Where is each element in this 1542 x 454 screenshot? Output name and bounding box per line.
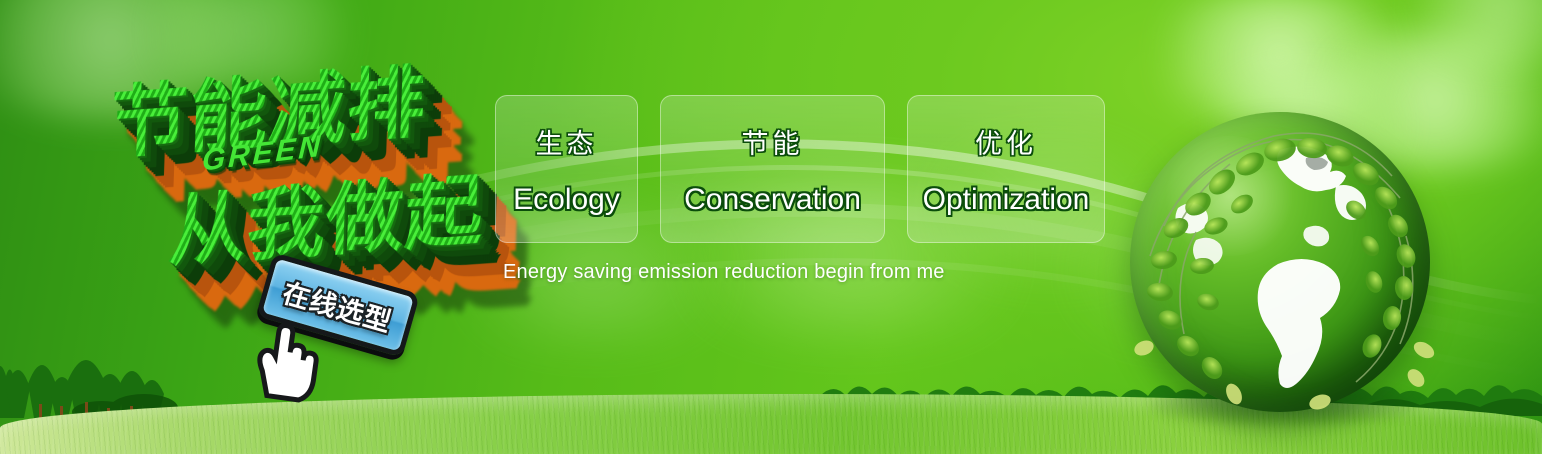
feature-card-cn-label: 节能 [742,122,804,161]
conifer-trees-icon [0,338,194,418]
feature-card-cn-label: 生态 [536,122,598,161]
eco-promo-banner: 节能减排 GREEN 从我做起 在线选型 生态 Ecology 节能 Conse… [0,0,1542,454]
leafy-earth-globe [1130,112,1430,412]
feature-card-en-label: Optimization [923,183,1090,217]
online-selection-button[interactable]: 在线选型 [256,252,420,357]
cloud-icon [0,0,280,120]
cloud-icon [1130,0,1430,120]
cloud-icon [120,0,380,90]
feature-card-en-label: Ecology [513,183,620,217]
tagline: Energy saving emission reduction begin f… [503,261,945,284]
headline-line-2: 从我做起 [166,147,485,282]
feature-card-optimization[interactable]: 优化 Optimization [907,95,1105,243]
feature-card-list: 生态 Ecology 节能 Conservation 优化 Optimizati… [495,95,1105,243]
headline-subtitle-en: GREEN [201,129,324,178]
button-label: 在线选型 [256,252,420,357]
feature-card-ecology[interactable]: 生态 Ecology [495,95,638,243]
feature-card-cn-label: 优化 [975,122,1037,161]
leaf-vine-canopy-icon [1124,106,1436,418]
headline-line-1: 节能减排 [109,39,428,174]
headline-3d: 节能减排 GREEN 从我做起 [98,28,513,285]
feature-card-en-label: Conservation [684,183,861,217]
cloud-icon [1390,0,1542,65]
feature-card-conservation[interactable]: 节能 Conservation [660,95,885,243]
